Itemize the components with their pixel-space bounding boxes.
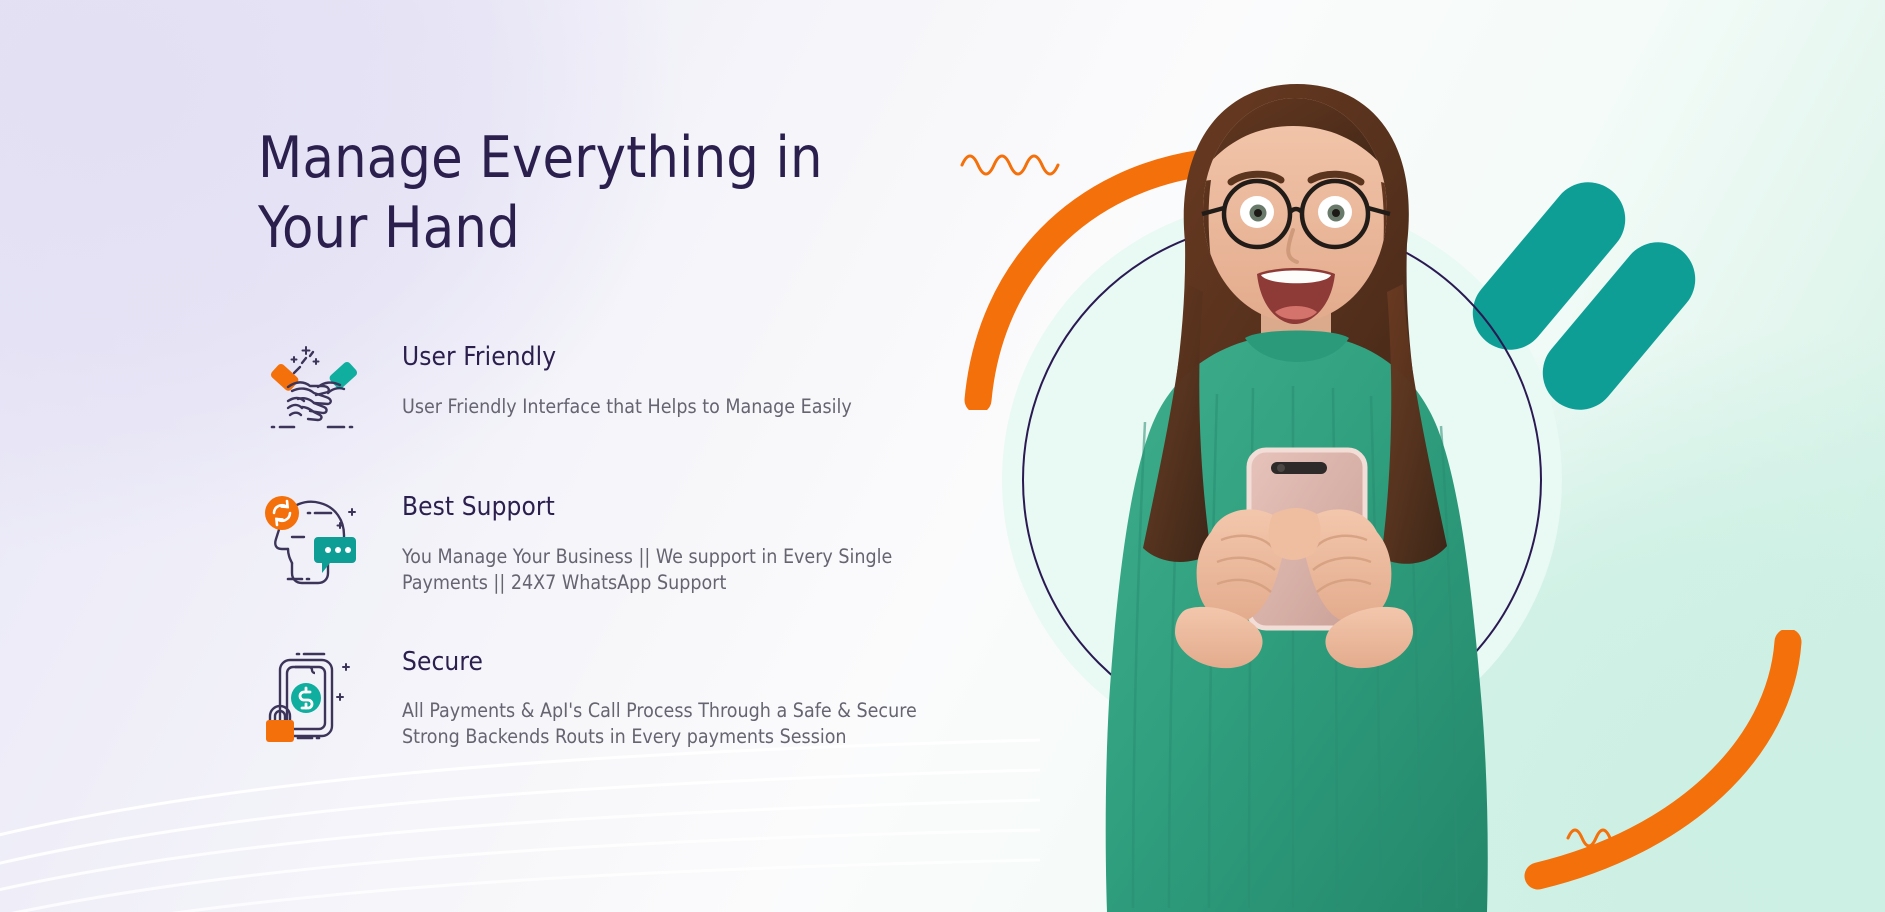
feature-list: User Friendly User Friendly Interface th… <box>258 341 938 750</box>
feature-text: User Friendly User Friendly Interface th… <box>370 341 852 420</box>
hero-banner: Manage Everything in Your Hand <box>0 0 1885 912</box>
feature-item-user-friendly: User Friendly User Friendly Interface th… <box>258 341 938 437</box>
orange-squiggle-bottom-icon <box>1564 820 1674 852</box>
hero-content: Manage Everything in Your Hand <box>258 124 938 750</box>
feature-description: All Payments & ApI's Call Process Throug… <box>402 698 917 750</box>
feature-title: Secure <box>402 648 917 677</box>
feature-description: You Manage Your Business || We support i… <box>402 544 892 596</box>
secure-phone-lock-icon <box>258 646 370 742</box>
feature-title: User Friendly <box>402 343 852 372</box>
handshake-icon <box>258 341 370 437</box>
feature-item-best-support: Best Support You Manage Your Business ||… <box>258 491 938 595</box>
feature-text: Best Support You Manage Your Business ||… <box>370 491 892 595</box>
feature-text: Secure All Payments & ApI's Call Process… <box>370 646 917 750</box>
feature-item-secure: Secure All Payments & ApI's Call Process… <box>258 646 938 750</box>
feature-title: Best Support <box>402 493 892 522</box>
excited-woman-with-phone-photo <box>1035 62 1555 912</box>
page-title: Manage Everything in Your Hand <box>258 124 938 263</box>
feature-description: User Friendly Interface that Helps to Ma… <box>402 394 852 420</box>
support-head-chat-icon <box>258 491 370 587</box>
